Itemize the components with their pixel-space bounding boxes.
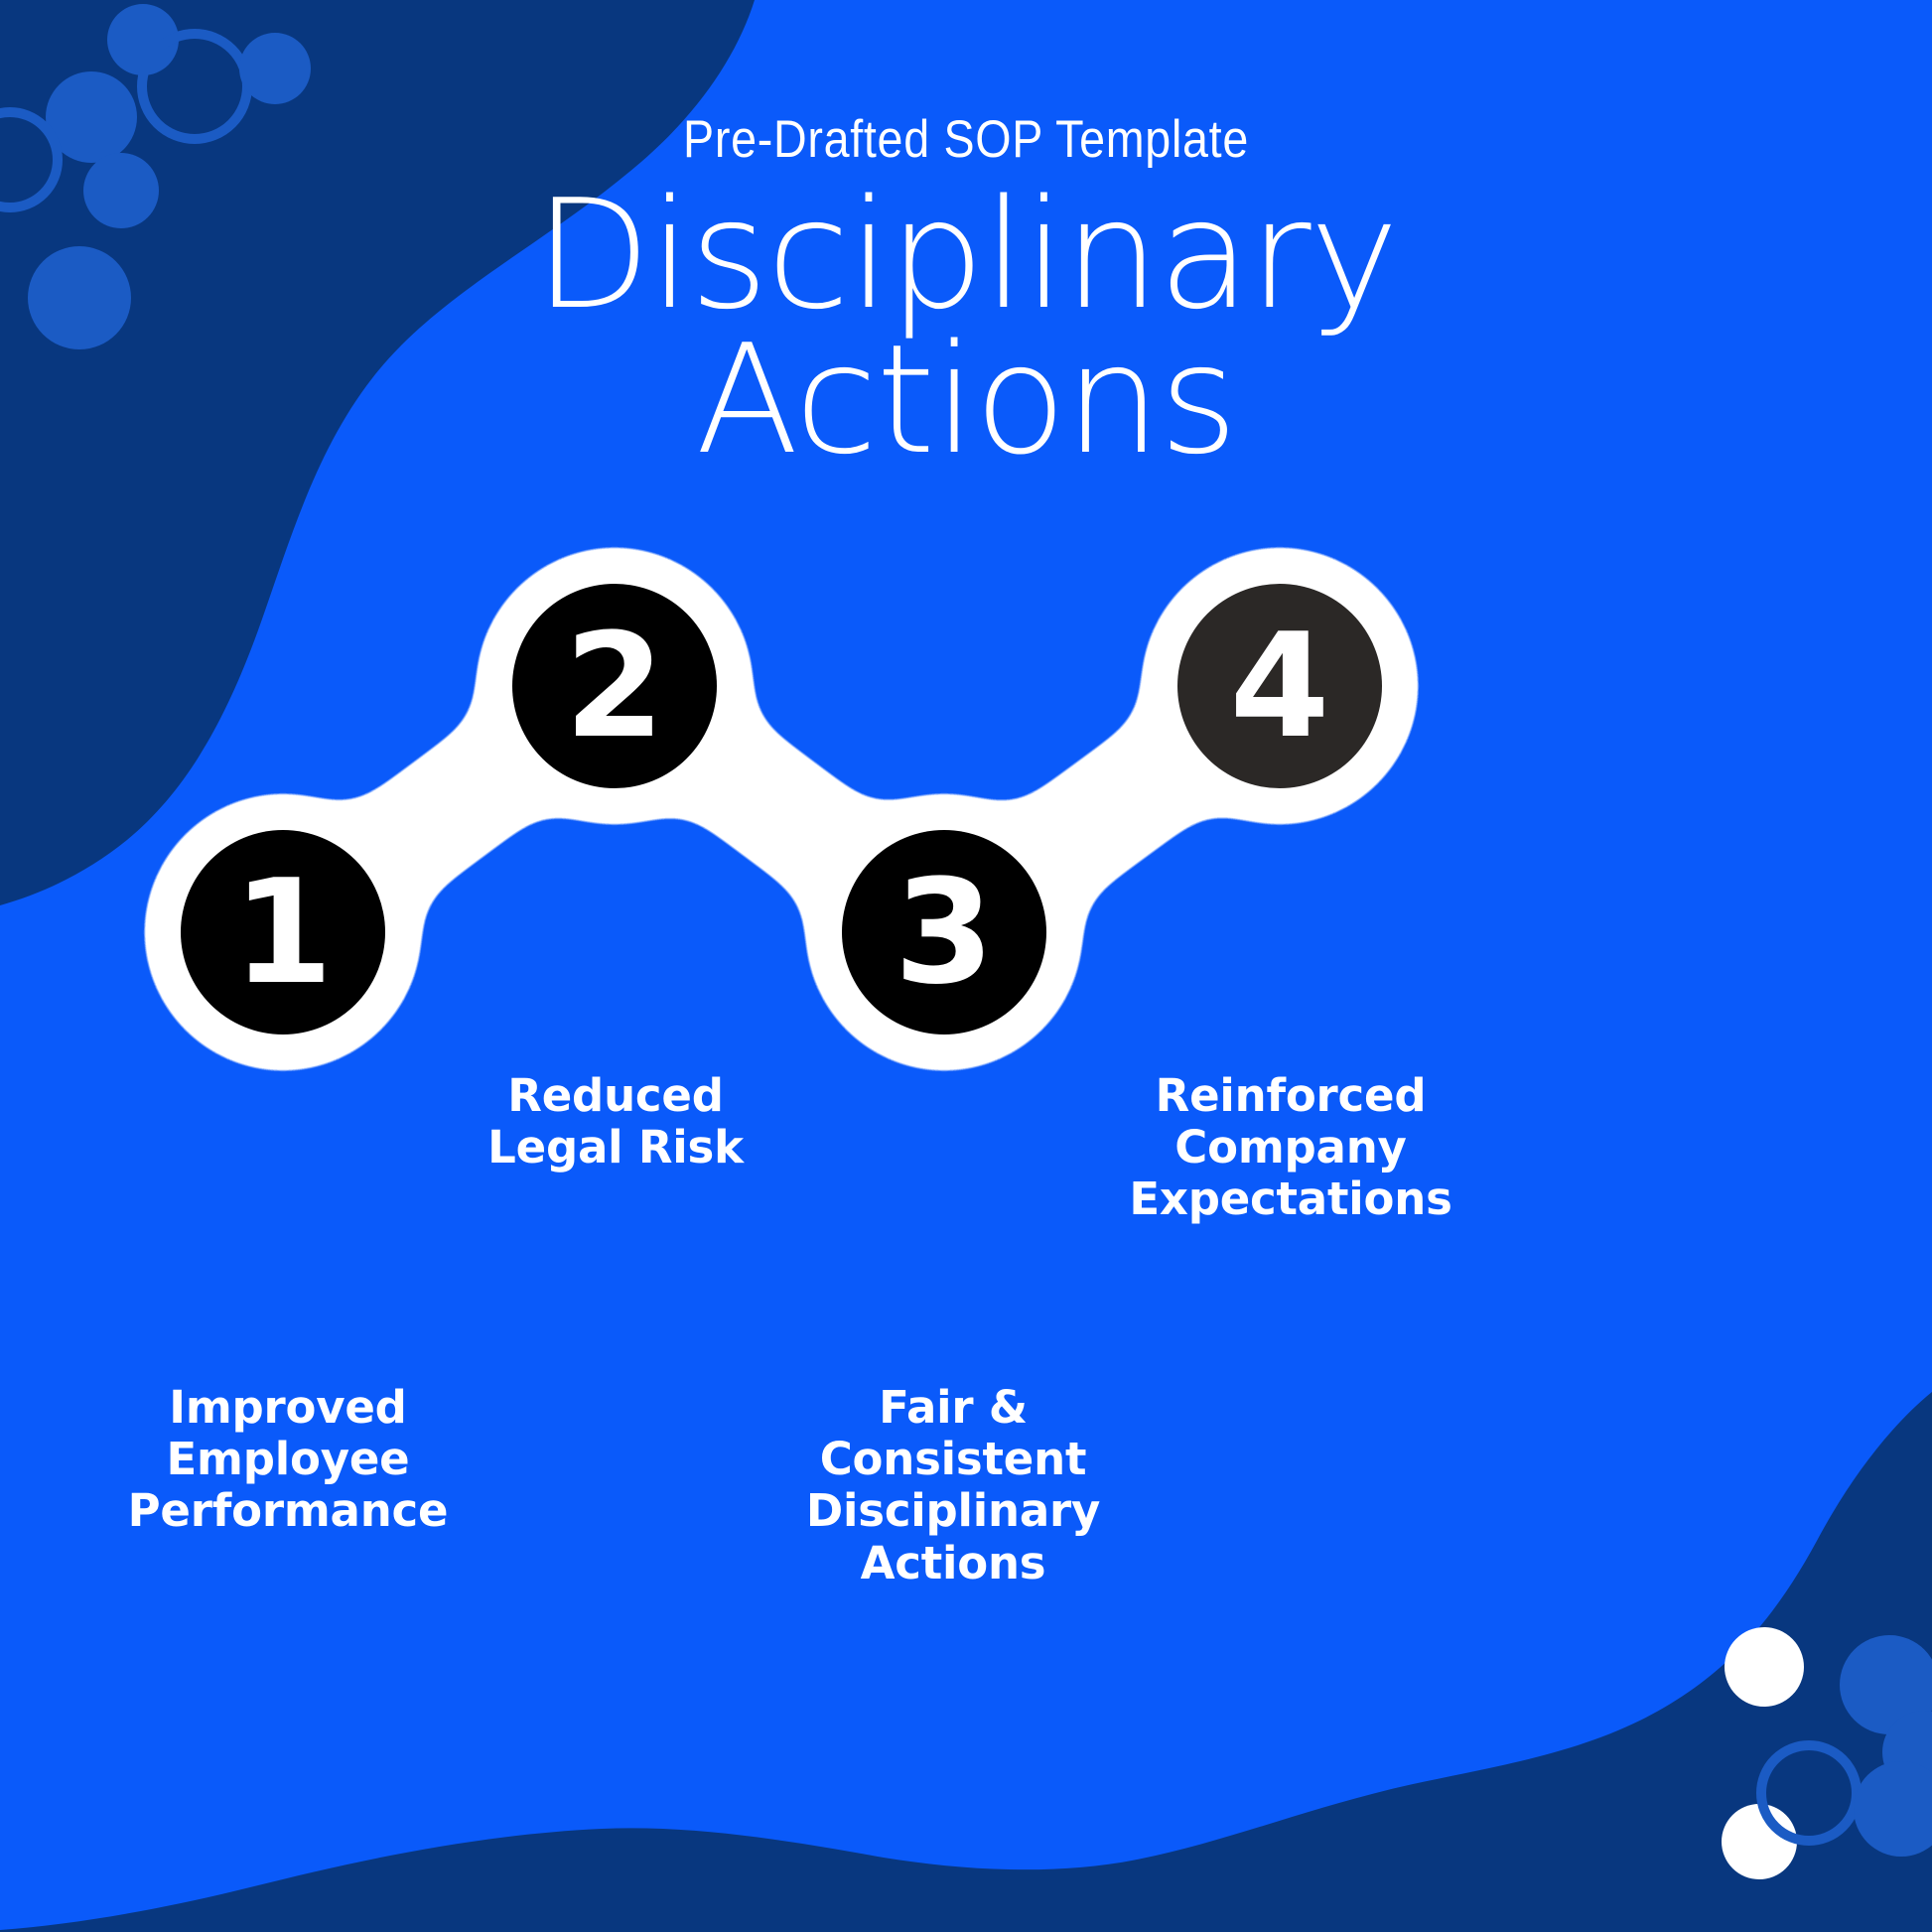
step-number-circle-3[interactable]: 3	[842, 830, 1046, 1035]
step-number-circle-2[interactable]: 2	[512, 584, 717, 788]
step-number-circle-4[interactable]: 4	[1177, 584, 1382, 788]
infographic-canvas: Pre-Drafted SOP Template Disciplinary Ac…	[0, 0, 1932, 1932]
step-number-circle-1[interactable]: 1	[181, 830, 385, 1035]
